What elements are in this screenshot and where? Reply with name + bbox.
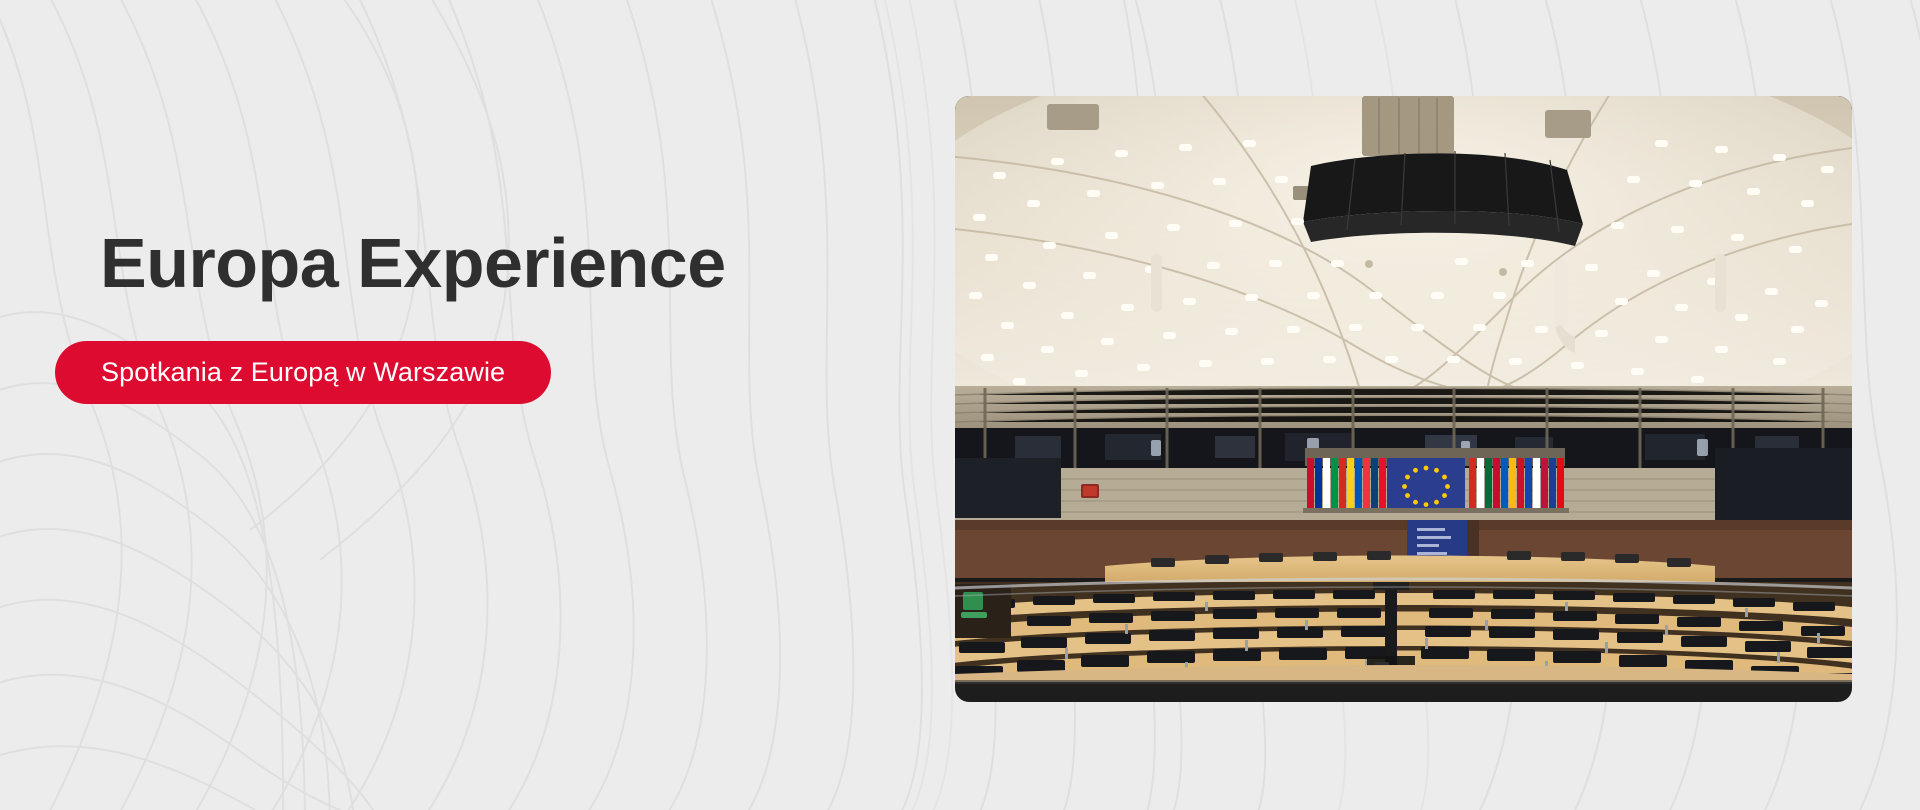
page-title: Europa Experience xyxy=(100,228,860,298)
hemicycle-photo xyxy=(955,96,1852,702)
banner-text-block: Europa Experience Spotkania z Europą w W… xyxy=(100,228,860,404)
subtitle-pill-button[interactable]: Spotkania z Europą w Warszawie xyxy=(55,341,551,404)
europa-experience-banner: Europa Experience Spotkania z Europą w W… xyxy=(0,0,1920,810)
